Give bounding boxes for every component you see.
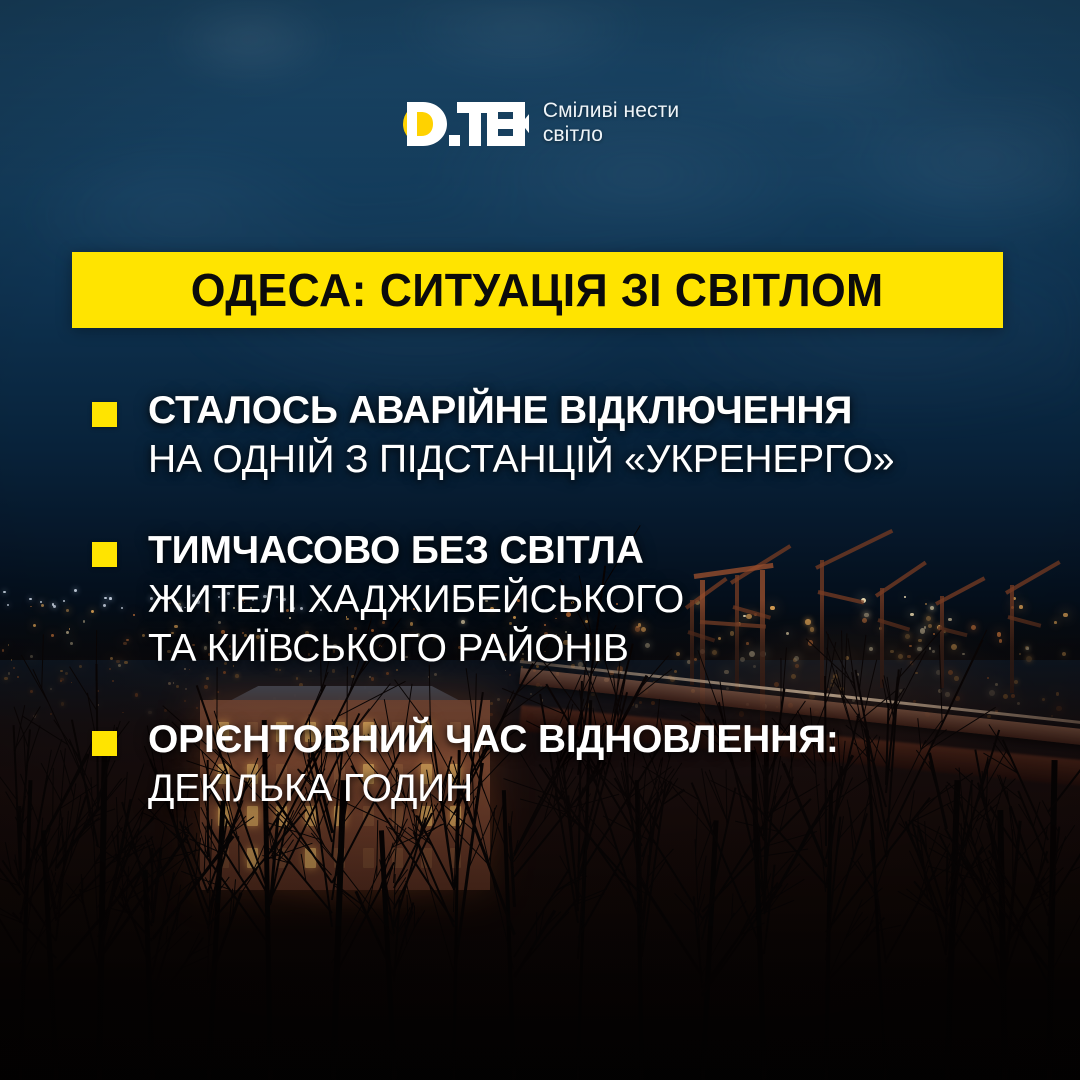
bullet-list: СТАЛОСЬ АВАРІЙНЕ ВІДКЛЮЧЕННЯНА ОДНІЙ З П… [92,386,1032,813]
bullet-square-icon [92,542,117,567]
logo-mark [401,96,529,152]
title-banner: ОДЕСА: СИТУАЦІЯ ЗІ СВІТЛОМ [72,252,1003,328]
page-title: ОДЕСА: СИТУАЦІЯ ЗІ СВІТЛОМ [191,263,884,317]
tagline-line-2: світло [543,123,679,147]
bullet-item: СТАЛОСЬ АВАРІЙНЕ ВІДКЛЮЧЕННЯНА ОДНІЙ З П… [92,386,1032,484]
bullet-line: ОРІЄНТОВНИЙ ЧАС ВІДНОВЛЕННЯ: [148,715,1032,764]
poster: Сміливі нести світло ОДЕСА: СИТУАЦІЯ ЗІ … [0,0,1080,1080]
bullet-square-icon [92,731,117,756]
bullet-text-block: ТИМЧАСОВО БЕЗ СВІТЛАЖИТЕЛІ ХАДЖИБЕЙСЬКОГ… [148,526,1032,673]
bullet-line: ТИМЧАСОВО БЕЗ СВІТЛА [148,526,1032,575]
logo-wordmark [401,96,529,152]
bullet-item: ОРІЄНТОВНИЙ ЧАС ВІДНОВЛЕННЯ:ДЕКІЛЬКА ГОД… [92,715,1032,813]
bullet-line: СТАЛОСЬ АВАРІЙНЕ ВІДКЛЮЧЕННЯ [148,386,1032,435]
bullet-item: ТИМЧАСОВО БЕЗ СВІТЛАЖИТЕЛІ ХАДЖИБЕЙСЬКОГ… [92,526,1032,673]
bullet-line: ТА КИЇВСЬКОГО РАЙОНІВ [148,624,1032,673]
tagline-line-1: Сміливі нести [543,99,679,123]
bullet-square-icon [92,402,117,427]
bullet-text-block: ОРІЄНТОВНИЙ ЧАС ВІДНОВЛЕННЯ:ДЕКІЛЬКА ГОД… [148,715,1032,813]
bullet-line: ЖИТЕЛІ ХАДЖИБЕЙСЬКОГО [148,575,1032,624]
bullet-line: ДЕКІЛЬКА ГОДИН [148,764,1032,813]
brand-tagline: Сміливі нести світло [543,96,679,146]
bullet-text-block: СТАЛОСЬ АВАРІЙНЕ ВІДКЛЮЧЕННЯНА ОДНІЙ З П… [148,386,1032,484]
bullet-line: НА ОДНІЙ З ПІДСТАНЦІЙ «УКРЕНЕРГО» [148,435,1032,484]
brand-logo: Сміливі нести світло [0,96,1080,152]
content-layer: Сміливі нести світло ОДЕСА: СИТУАЦІЯ ЗІ … [0,0,1080,1080]
